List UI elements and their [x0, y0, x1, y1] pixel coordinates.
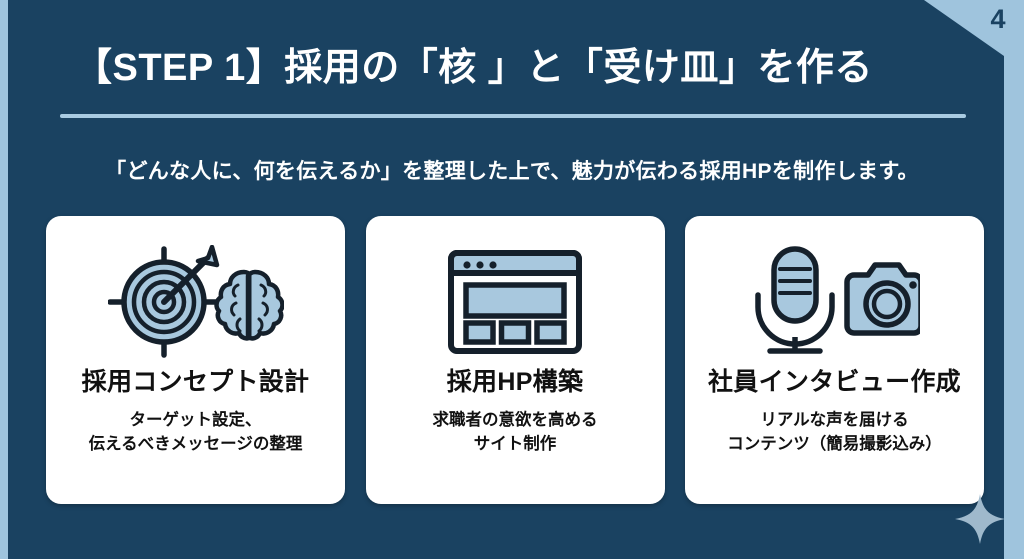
title-divider: [60, 114, 966, 118]
card-title: 採用HP構築: [447, 368, 584, 397]
card-description-line: 伝えるべきメッセージの整理: [89, 433, 303, 457]
page-number: 4: [990, 6, 1006, 33]
microphone-icon: [750, 245, 920, 359]
target-arrow-brain-icon-group: [108, 242, 284, 362]
card-description-line: コンテンツ（簡易撮影込み）: [727, 433, 942, 457]
browser-window-icon-group: [447, 242, 583, 362]
card-description-line: 求職者の意欲を高める: [433, 409, 598, 433]
camera-icon: [847, 265, 920, 333]
card-item[interactable]: 社員インタビュー作成 リアルな声を届ける コンテンツ（簡易撮影込み）: [685, 216, 984, 504]
card-description-line: サイト制作: [433, 433, 598, 457]
sparkle-four-point-icon: [954, 493, 1006, 545]
card-description: 求職者の意欲を高める サイト制作: [433, 409, 598, 457]
page-title: 【STEP 1】採用の「核 」と「受け皿」を作る: [74, 48, 873, 90]
card-description: リアルな声を届ける コンテンツ（簡易撮影込み）: [727, 409, 942, 457]
microphone-camera-icon-group: [750, 242, 920, 362]
card-description-line: リアルな声を届ける: [727, 409, 942, 433]
brain-icon: [216, 272, 282, 338]
browser-window-icon: [447, 247, 583, 357]
target-arrow-icon: [108, 245, 284, 359]
card-description: ターゲット設定、 伝えるべきメッセージの整理: [89, 409, 303, 457]
card-item[interactable]: 採用コンセプト設計 ターゲット設定、 伝えるべきメッセージの整理: [46, 216, 345, 504]
card-item[interactable]: 採用HP構築 求職者の意欲を高める サイト制作: [366, 216, 665, 504]
slide-canvas: 4 【STEP 1】採用の「核 」と「受け皿」を作る 「どんな人に、何を伝えるか…: [0, 0, 1024, 559]
card-title: 採用コンセプト設計: [82, 368, 310, 397]
card-list: 採用コンセプト設計 ターゲット設定、 伝えるべきメッセージの整理: [46, 216, 984, 504]
card-title: 社員インタビュー作成: [708, 368, 961, 397]
card-description-line: ターゲット設定、: [89, 409, 303, 433]
page-subtitle: 「どんな人に、何を伝えるか」を整理した上で、魅力が伝わる採用HPを制作します。: [0, 155, 1024, 185]
